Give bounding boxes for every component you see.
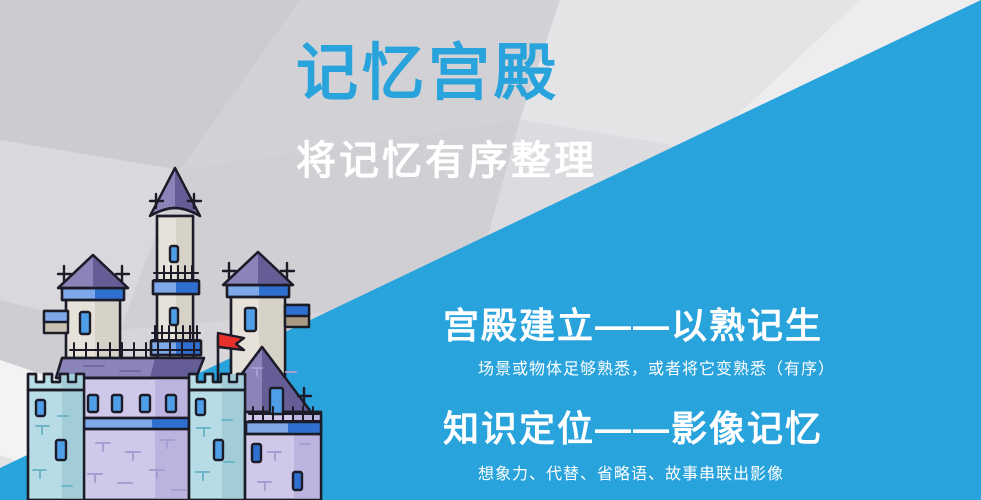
page-subtitle: 将记忆有序整理 <box>296 128 597 186</box>
section-heading-1: 宫殿建立——以熟记生 <box>443 297 823 349</box>
section-caption-1: 场景或物体足够熟悉，或者将它变熟悉（有序） <box>478 355 835 379</box>
section-heading-2: 知识定位——影像记忆 <box>443 400 823 452</box>
page-title: 记忆宫殿 <box>296 22 560 112</box>
section-caption-2: 想象力、代替、省略语、故事串联出影像 <box>478 460 784 484</box>
slide-canvas: 记忆宫殿 将记忆有序整理 宫殿建立——以熟记生 场景或物体足够熟悉，或者将它变熟… <box>0 0 981 500</box>
